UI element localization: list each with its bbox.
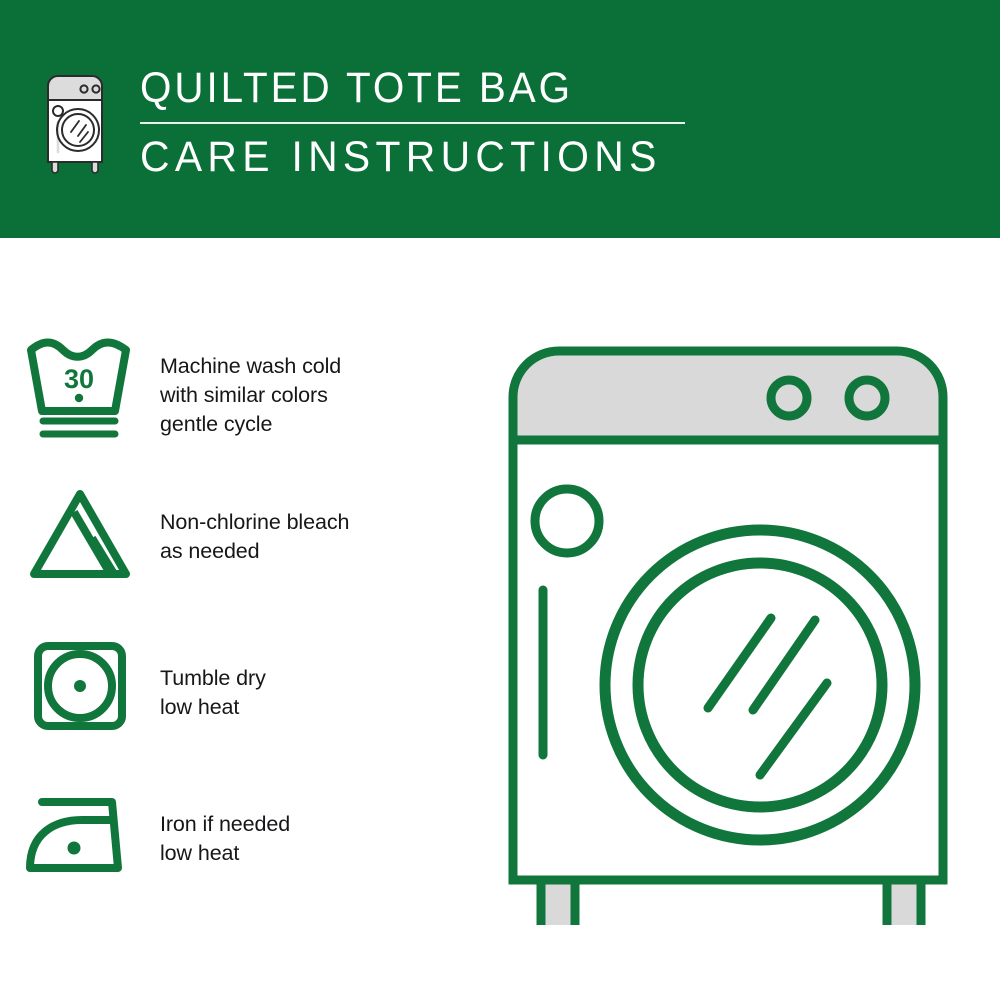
header-banner: QUILTED TOTE BAG CARE INSTRUCTIONS <box>0 0 1000 238</box>
washing-machine-icon <box>44 66 106 174</box>
leg-right <box>887 880 921 925</box>
care-item-label: Machine wash cold with similar colors ge… <box>160 338 341 439</box>
header-title-block: QUILTED TOTE BAG CARE INSTRUCTIONS <box>140 62 760 183</box>
iron-icon <box>0 790 160 876</box>
care-item-iron: Iron if needed low heat <box>0 790 470 876</box>
care-item-line-2: with similar colors <box>160 381 341 410</box>
care-item-machine-wash: 30 Machine wash cold with similar colors… <box>0 338 470 442</box>
care-item-line-1: Machine wash cold <box>160 352 341 381</box>
title-divider <box>140 122 685 124</box>
tumble-dry-icon <box>0 638 160 734</box>
care-item-line-2: as needed <box>160 537 349 566</box>
wash-temperature-label: 30 <box>63 364 93 394</box>
care-item-tumble-dry: Tumble dry low heat <box>0 638 470 734</box>
page-title: QUILTED TOTE BAG <box>140 62 723 114</box>
page-subtitle: CARE INSTRUCTIONS <box>140 131 729 183</box>
care-item-line-3: gentle cycle <box>160 410 341 439</box>
wash-tub-icon: 30 <box>0 338 160 442</box>
care-item-line-1: Non-chlorine bleach <box>160 508 349 537</box>
care-symbol-list: 30 Machine wash cold with similar colors… <box>0 238 470 1000</box>
care-item-line-1: Tumble dry <box>160 664 266 693</box>
care-item-label: Non-chlorine bleach as needed <box>160 486 349 566</box>
care-item-label: Tumble dry low heat <box>160 638 266 722</box>
care-item-label: Iron if needed low heat <box>160 790 290 868</box>
leg-left <box>541 880 575 925</box>
non-chlorine-bleach-triangle-icon <box>0 486 160 582</box>
care-instructions-infographic: QUILTED TOTE BAG CARE INSTRUCTIONS 30 <box>0 0 1000 1000</box>
care-item-line-2: low heat <box>160 693 266 722</box>
care-item-line-1: Iron if needed <box>160 810 290 839</box>
care-item-bleach: Non-chlorine bleach as needed <box>0 486 470 582</box>
washing-machine-illustration <box>495 335 970 925</box>
care-item-line-2: low heat <box>160 839 290 868</box>
